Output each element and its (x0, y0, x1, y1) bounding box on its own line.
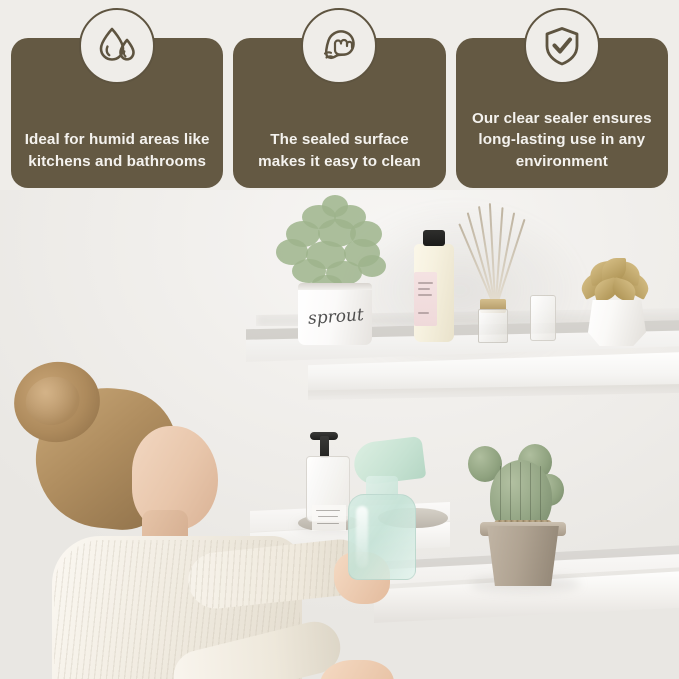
cactus-pot (462, 440, 582, 590)
fern-foliage (272, 195, 402, 291)
diffuser-glass-base (478, 309, 508, 343)
feature-card-text: The sealed surface makes it easy to clea… (246, 129, 433, 172)
spray-bottle (336, 440, 428, 580)
feature-card-humid-areas[interactable]: Ideal for humid areas like kitchens and … (11, 38, 223, 188)
planter-script-label: sprout (307, 305, 364, 329)
feature-card-long-lasting[interactable]: Our clear sealer ensures long-lasting us… (456, 38, 668, 188)
reed-diffuser (462, 215, 532, 343)
gold-succulent (572, 258, 658, 346)
hand-wiping-cloth-icon (301, 8, 377, 84)
glass-jar (530, 295, 556, 341)
bottle-cap (423, 230, 445, 246)
white-ceramic-planter: sprout (298, 283, 372, 345)
geometric-white-pot (588, 300, 646, 346)
fern-planter: sprout (272, 195, 402, 323)
young-girl (0, 360, 352, 679)
amber-bottle (414, 230, 454, 342)
terracotta-pot (484, 526, 562, 586)
shield-check-icon (524, 8, 600, 84)
spray-highlight (356, 506, 368, 568)
infographic-page: Ideal for humid areas like kitchens and … (0, 0, 679, 679)
product-photo-scene: sprout (0, 190, 679, 679)
feature-cards-row: Ideal for humid areas like kitchens and … (11, 38, 668, 188)
water-droplets-icon (79, 8, 155, 84)
feature-card-text: Ideal for humid areas like kitchens and … (24, 129, 211, 172)
bottle-label (414, 272, 437, 326)
feature-card-easy-clean[interactable]: The sealed surface makes it easy to clea… (233, 38, 445, 188)
feature-card-text: Our clear sealer ensures long-lasting us… (468, 108, 655, 173)
